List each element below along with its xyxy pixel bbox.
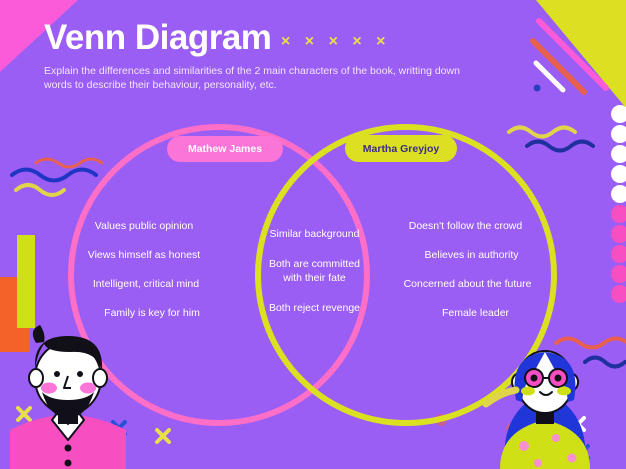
list-item: Intelligent, critical mind	[66, 277, 226, 291]
venn-items-center: Similar background Both are committed wi…	[252, 227, 377, 331]
list-item: Family is key for him	[72, 306, 232, 320]
venn-items-left: Values public opinion Views himself as h…	[70, 219, 230, 335]
male-character-illustration	[10, 325, 126, 469]
list-item: Views himself as honest	[64, 248, 224, 262]
venn-label-right[interactable]: Martha Greyjoy	[345, 135, 457, 162]
list-item: Female leader	[391, 306, 560, 320]
list-item: Doesn't follow the crowd	[381, 219, 550, 233]
page-title: Venn Diagram	[44, 18, 271, 58]
subtitle-line-1: Explain the differences and similarities…	[44, 65, 396, 77]
venn-label-left-text: Mathew James	[188, 143, 262, 155]
venn-label-right-text: Martha Greyjoy	[363, 143, 439, 155]
venn-items-right: Doesn't follow the crowd Believes in aut…	[383, 219, 552, 335]
page-subtitle: Explain the differences and similarities…	[44, 64, 464, 92]
list-item: Concerned about the future	[383, 277, 552, 291]
list-item: Believes in authority	[387, 248, 556, 262]
venn-label-left[interactable]: Mathew James	[167, 136, 283, 162]
list-item: Both reject revenge	[252, 301, 377, 315]
list-item: Values public opinion	[64, 219, 224, 233]
title-x-decoration: × × × × ×	[281, 33, 391, 51]
female-character-illustration	[486, 351, 590, 469]
poster-canvas: Venn Diagram × × × × × Explain the diffe…	[0, 0, 626, 469]
list-item: Both are committed with their fate	[252, 257, 377, 285]
list-item: Similar background	[252, 227, 377, 241]
